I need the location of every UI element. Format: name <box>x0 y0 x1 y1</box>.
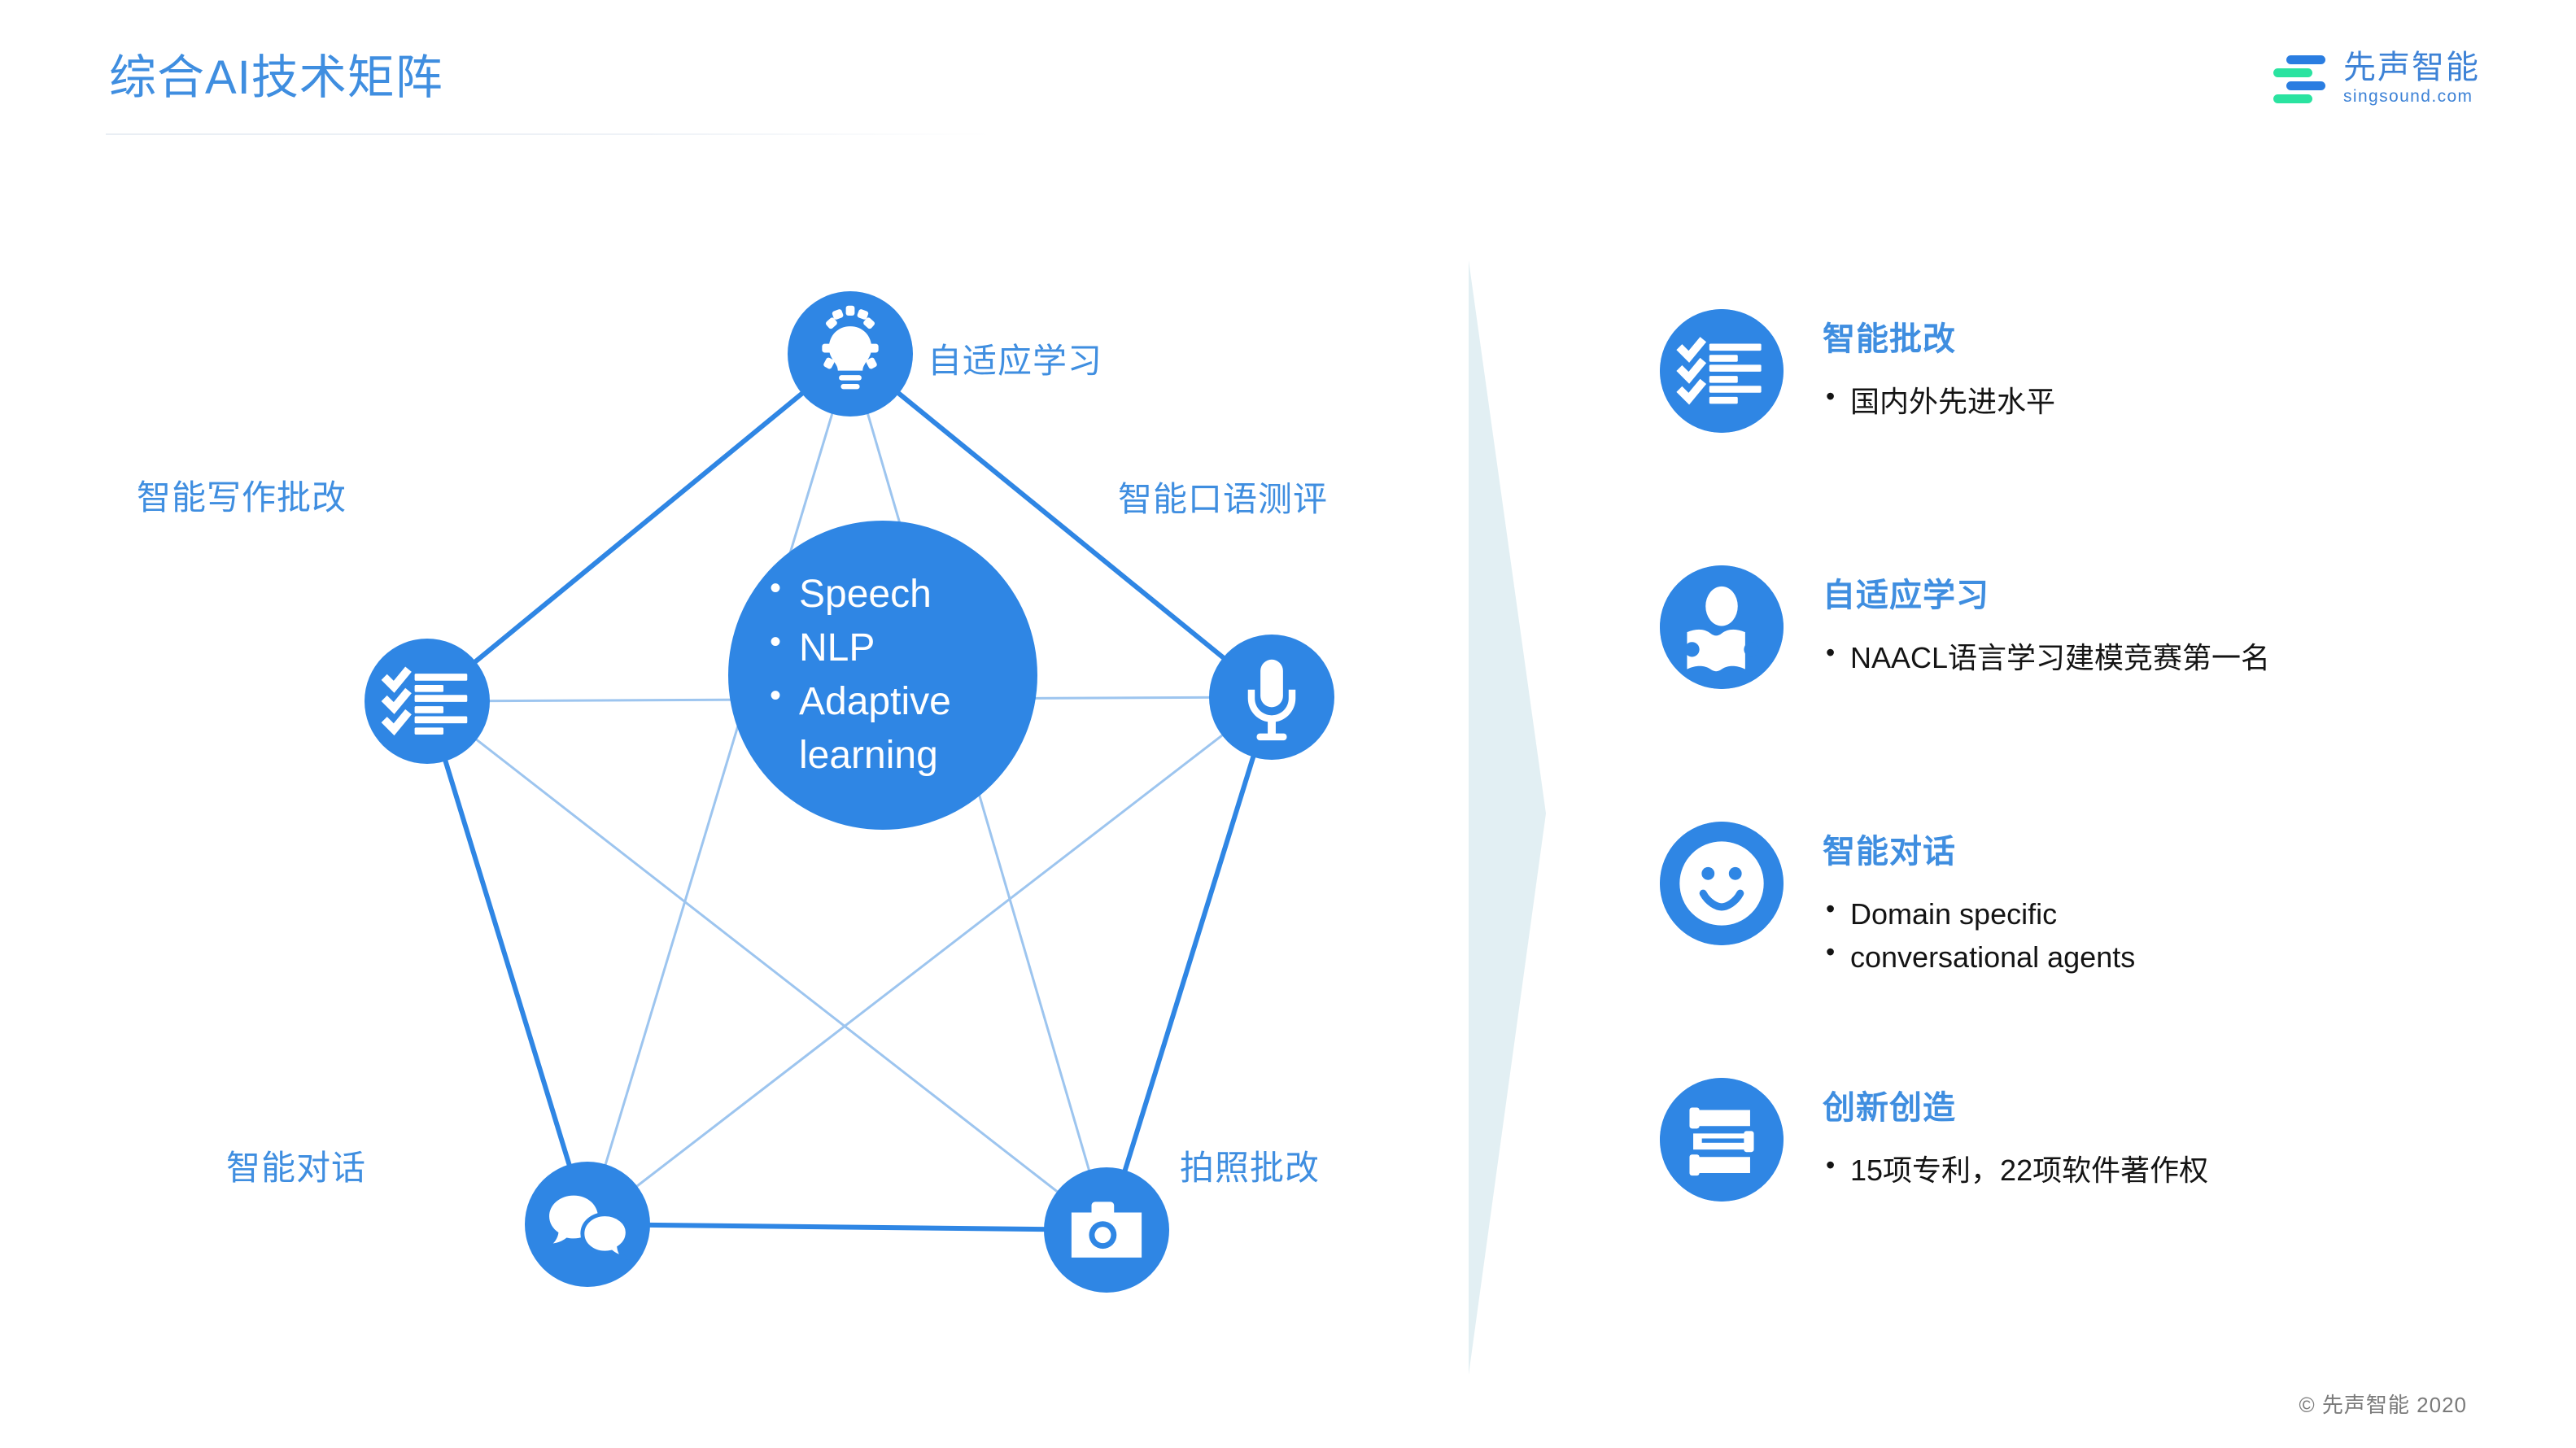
checklist-icon <box>1660 309 1784 433</box>
logo-name-cn: 先声智能 <box>2343 50 2480 85</box>
feature-title: 智能批改 <box>1823 312 2482 360</box>
feature-bullet-text: conversational agents <box>1850 936 2135 978</box>
four-bar-logo-icon <box>2272 54 2329 104</box>
feature-item-innovation: 创新创造 15项专利，22项软件著作权 <box>1660 1078 2482 1208</box>
feature-body: 智能对话 Domain specific conversational agen… <box>1823 822 2482 935</box>
center-bullet: Adaptive learning <box>765 675 1001 783</box>
brand-logo: 先声智能 singsound.com <box>2272 50 2480 107</box>
feature-bullet-list: Domain specific conversational agents <box>1823 893 2482 935</box>
feature-title: 智能对话 <box>1823 825 2482 872</box>
feature-item-adaptive-learning: 自适应学习 NAACL语言学习建模竞赛第一名 <box>1660 565 2482 696</box>
stacked-books-icon <box>1660 1078 1784 1202</box>
node-dialogue[interactable] <box>525 1162 650 1287</box>
feature-bullet: NAACL语言学习建模竞赛第一名 <box>1823 637 2482 678</box>
center-bullet-list: Speech NLP Adaptive learning <box>765 568 1001 783</box>
slide-root: 综合AI技术矩阵 先声智能 singsound.com <box>0 0 2576 1448</box>
person-reading-icon <box>1660 565 1784 689</box>
feature-bullet: Domain specific <box>1823 893 2482 935</box>
feature-title: 自适应学习 <box>1823 569 2482 616</box>
feature-bullet-list: NAACL语言学习建模竞赛第一名 <box>1823 637 2482 678</box>
feature-list: 智能批改 国内外先进水平 自适应学习 NAACL语言学习建模 <box>1660 309 2482 1208</box>
logo-name-en: singsound.com <box>2343 87 2473 107</box>
feature-title: 创新创造 <box>1823 1081 2482 1128</box>
node-label-spoken-assessment: 智能口语测评 <box>1118 472 1328 521</box>
feature-bullet: 国内外先进水平 <box>1823 381 2482 422</box>
logo-text: 先声智能 singsound.com <box>2343 50 2480 107</box>
node-photo-grading[interactable] <box>1044 1167 1169 1293</box>
feature-bullet: 15项专利，22项软件著作权 <box>1823 1149 2482 1191</box>
page-title: 综合AI技术矩阵 <box>109 39 443 107</box>
node-label-writing-grading: 智能写作批改 <box>137 470 347 520</box>
footer-copyright: © 先声智能 2020 <box>2299 1389 2467 1419</box>
center-core-circle: Speech NLP Adaptive learning <box>728 521 1037 830</box>
center-bullet: NLP <box>765 622 1001 675</box>
feature-bullet-list: 15项专利，22项软件著作权 <box>1823 1149 2482 1191</box>
feature-body: 自适应学习 NAACL语言学习建模竞赛第一名 <box>1823 565 2482 678</box>
node-adaptive-learning[interactable] <box>788 291 913 417</box>
smiley-face-icon <box>1660 822 1784 945</box>
node-label-photo-grading: 拍照批改 <box>1180 1141 1320 1190</box>
node-label-adaptive-learning: 自适应学习 <box>928 334 1102 383</box>
right-chevron-arrow-icon <box>1465 244 1554 1383</box>
feature-body: 智能批改 国内外先进水平 <box>1823 309 2482 422</box>
feature-item-dialogue: 智能对话 Domain specific conversational agen… <box>1660 822 2482 952</box>
center-bullet: Speech <box>765 568 1001 622</box>
feature-item-smart-grading: 智能批改 国内外先进水平 <box>1660 309 2482 439</box>
node-label-dialogue: 智能对话 <box>226 1141 366 1190</box>
header-divider <box>106 133 993 135</box>
feature-bullet-list: 国内外先进水平 <box>1823 381 2482 422</box>
feature-body: 创新创造 15项专利，22项软件著作权 <box>1823 1078 2482 1191</box>
node-writing-grading[interactable] <box>365 639 490 764</box>
node-spoken-assessment[interactable] <box>1209 635 1334 760</box>
pentagon-network-diagram: Speech NLP Adaptive learning <box>106 203 1489 1367</box>
